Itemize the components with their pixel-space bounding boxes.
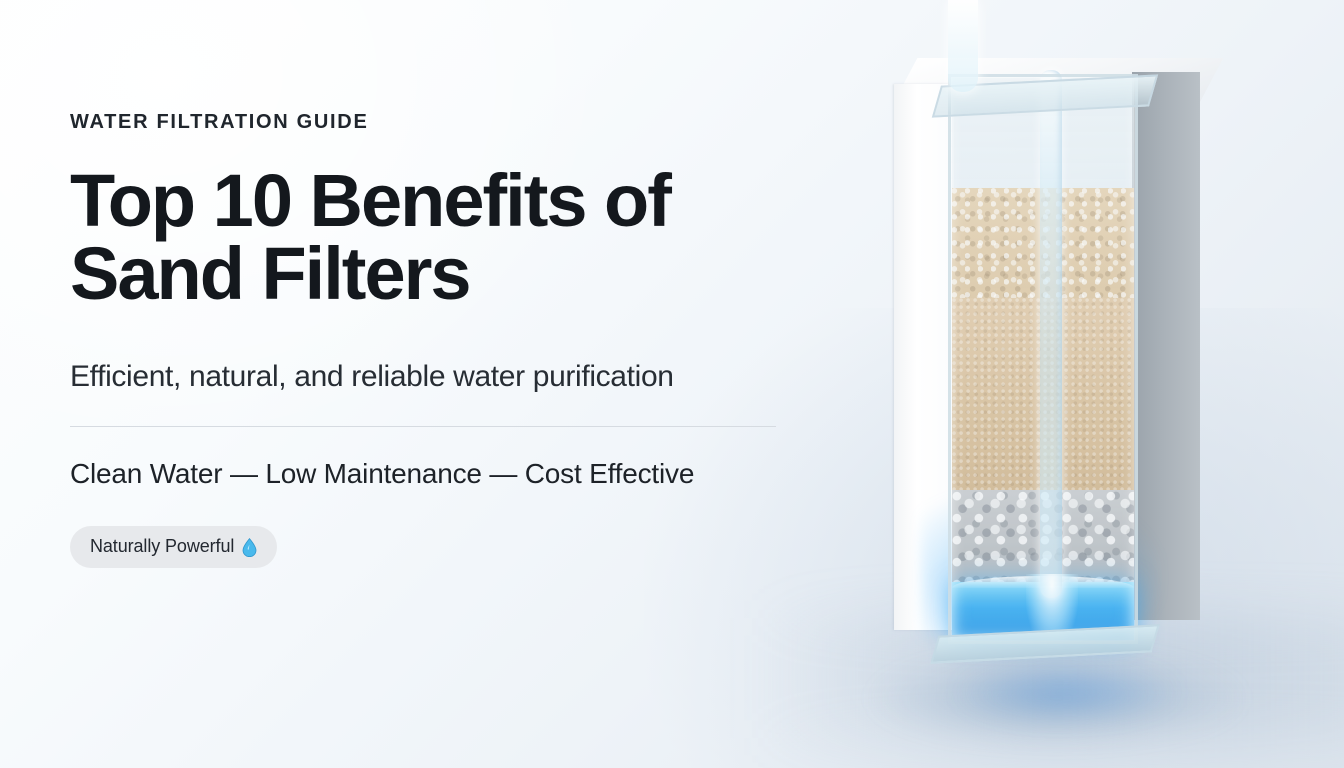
divider bbox=[70, 426, 776, 427]
hero-copy-block: WATER FILTRATION GUIDE Top 10 Benefits o… bbox=[70, 110, 800, 568]
tagline: Clean Water — Low Maintenance — Cost Eff… bbox=[70, 458, 800, 490]
blue-light-spill bbox=[952, 664, 1182, 720]
water-drop-icon bbox=[242, 538, 257, 557]
incoming-water-pour bbox=[948, 0, 978, 92]
glass-walls bbox=[948, 74, 1138, 644]
hero-banner: WATER FILTRATION GUIDE Top 10 Benefits o… bbox=[0, 0, 1344, 768]
eyebrow-label: WATER FILTRATION GUIDE bbox=[70, 110, 800, 134]
sand-filter-illustration bbox=[862, 0, 1262, 768]
page-title: Top 10 Benefits of Sand Filters bbox=[70, 164, 800, 311]
status-badge[interactable]: Naturally Powerful bbox=[70, 526, 277, 568]
headline-line-2: Sand Filters bbox=[70, 237, 800, 310]
badge-label: Naturally Powerful bbox=[90, 536, 234, 557]
glass-tank bbox=[948, 74, 1138, 644]
subtitle: Efficient, natural, and reliable water p… bbox=[70, 360, 800, 394]
headline-line-1: Top 10 Benefits of bbox=[70, 159, 670, 242]
